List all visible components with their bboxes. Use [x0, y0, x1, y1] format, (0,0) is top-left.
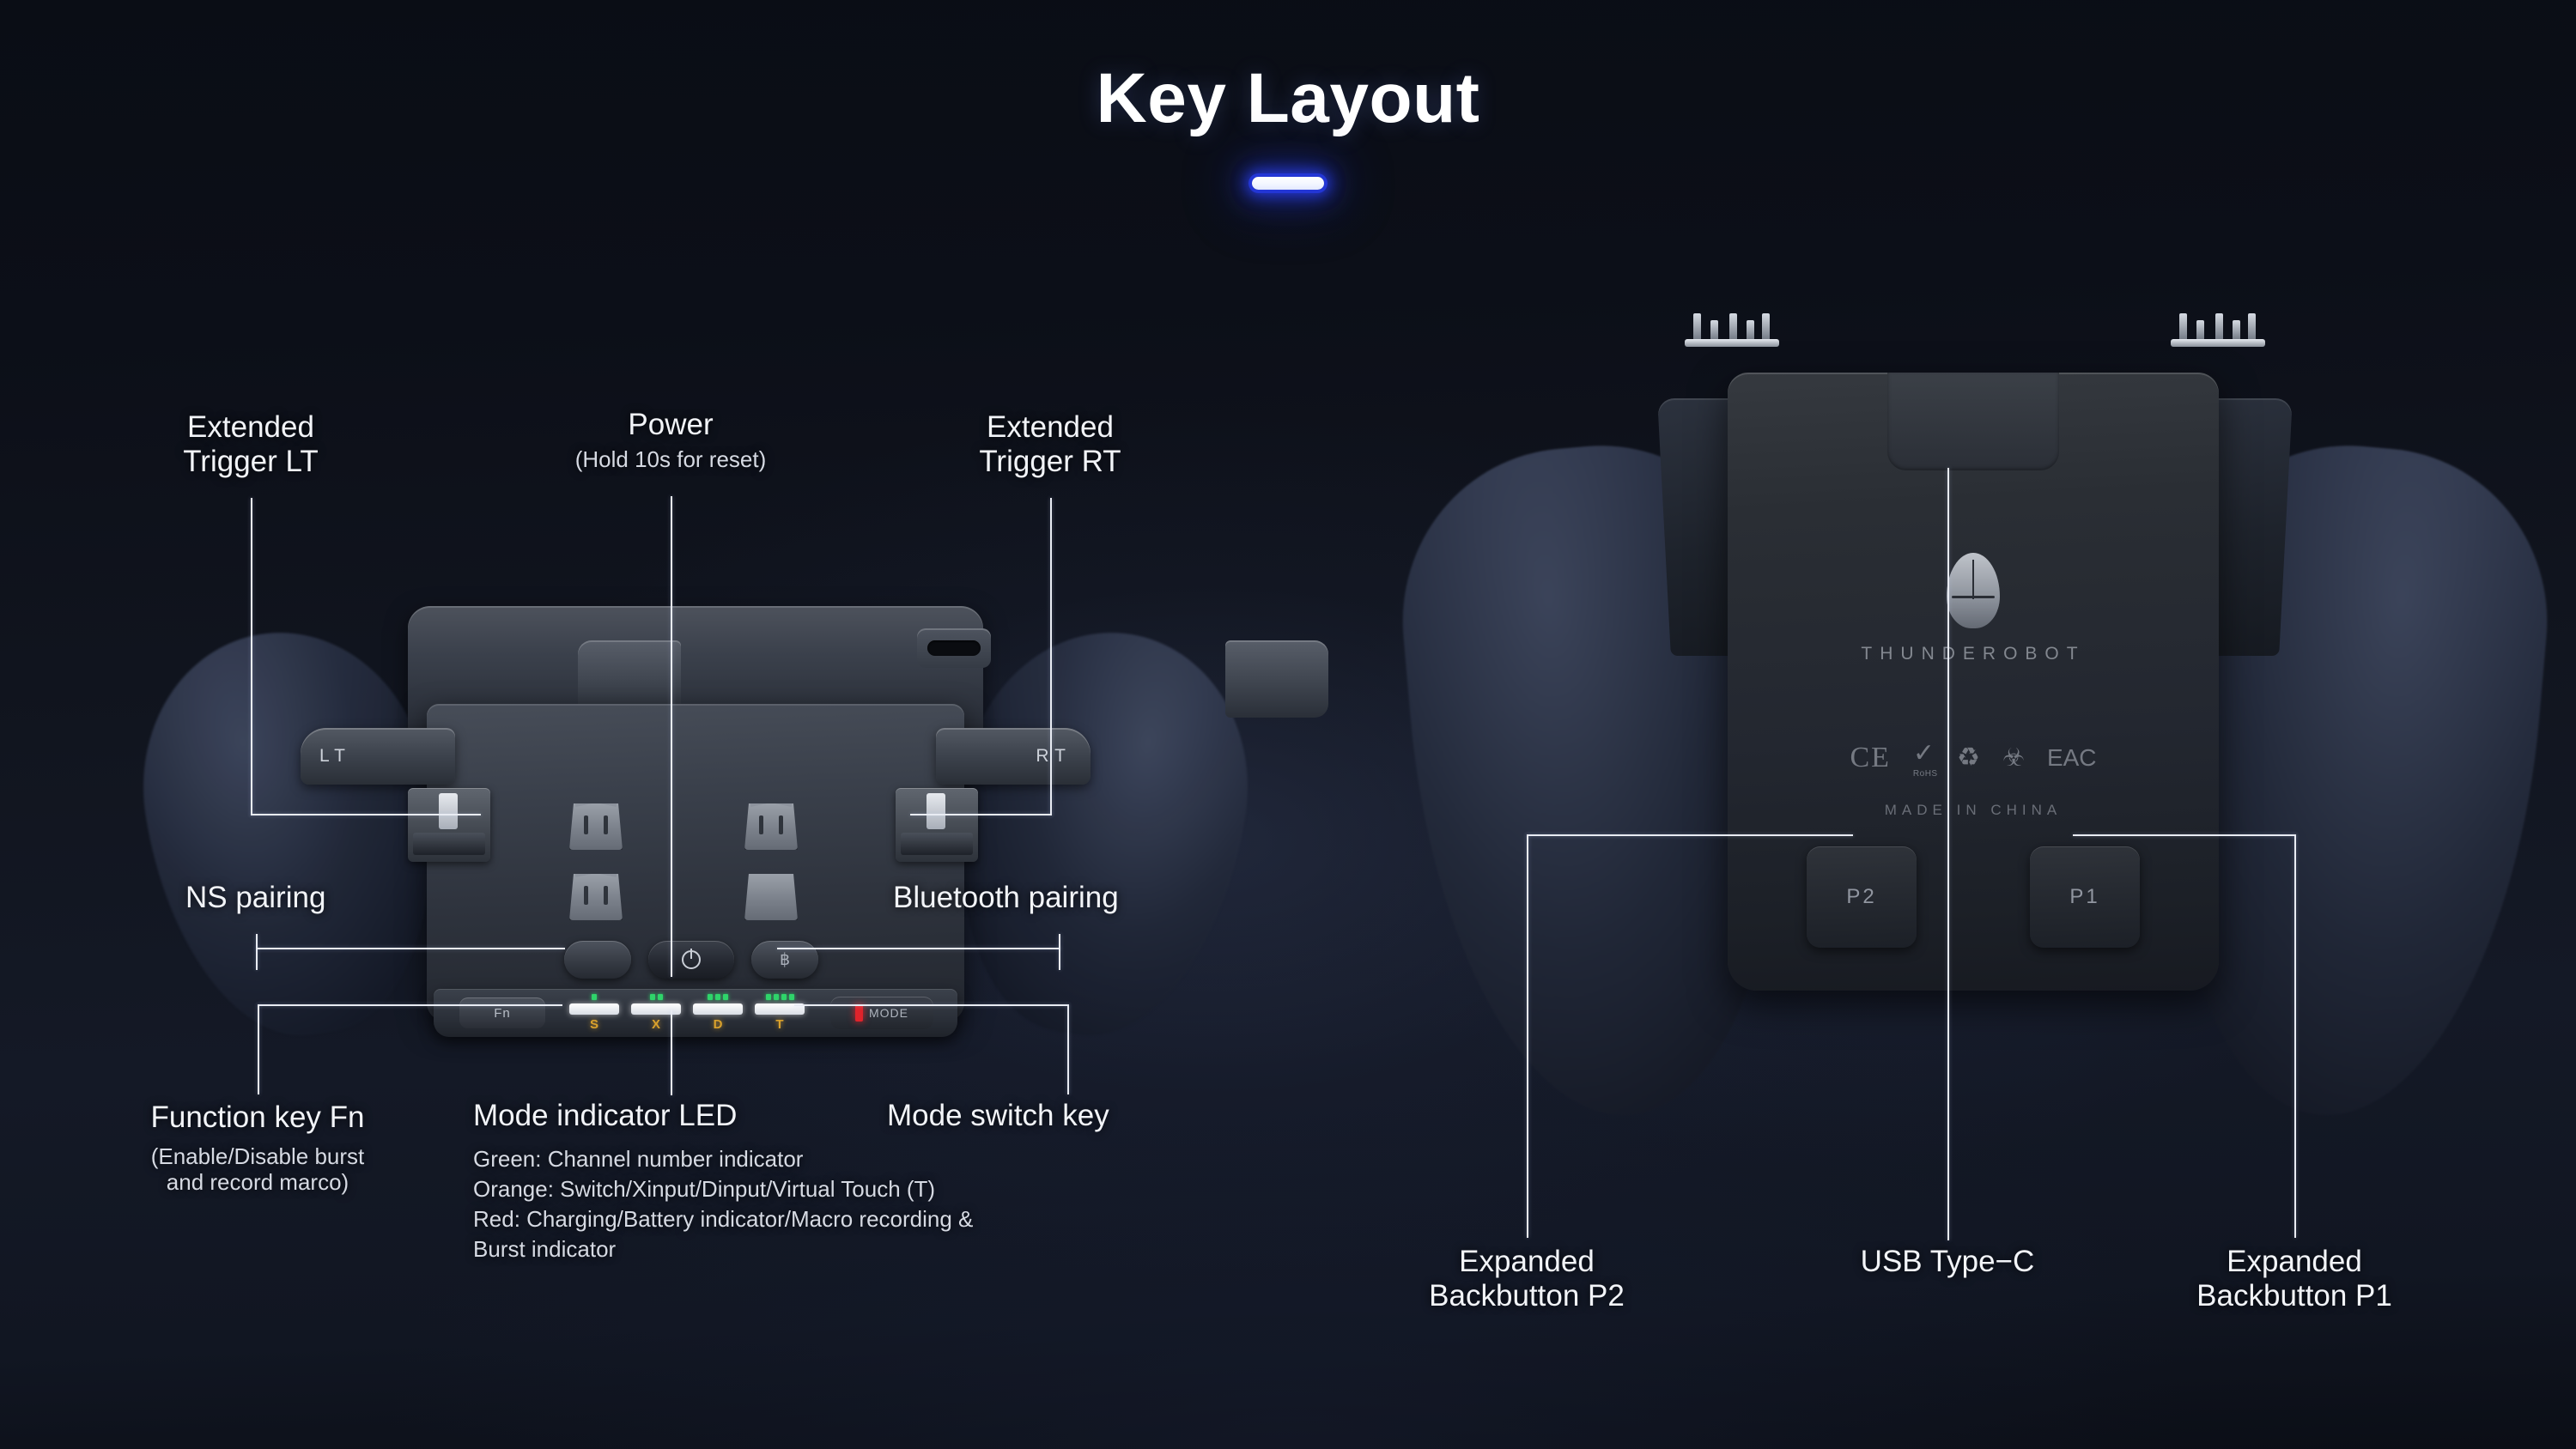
callout-power-note: (Hold 10s for reset) — [507, 447, 834, 473]
leader-line-rt-horizontal — [910, 814, 1052, 815]
leader-line-mode-horizontal — [794, 1004, 1069, 1006]
leader-line-p2-vertical — [1527, 834, 1528, 1238]
callout-power-title: Power — [507, 408, 834, 442]
leader-line-bt-vertical — [1059, 934, 1060, 970]
leader-line-lt-horizontal — [251, 814, 481, 815]
callout-usb-type-c: USB Type−C — [1784, 1245, 2111, 1279]
callout-function-key-note: (Enable/Disable burst and record marco) — [94, 1144, 421, 1195]
header: Key Layout — [0, 0, 2576, 190]
leader-line-fn-horizontal — [258, 1004, 562, 1006]
callout-mode-switch-key: Mode switch key — [887, 1099, 1248, 1133]
back-plate-notch — [1887, 373, 2059, 470]
recycle-icon: ♻ — [1957, 743, 1980, 773]
bluetooth-icon: ฿ — [780, 950, 790, 970]
leader-line-fn-vertical — [258, 1004, 259, 1094]
rohs-caption: RoHS — [1913, 769, 1938, 779]
title-divider-wrap — [0, 177, 2576, 190]
certification-marks: CE ✓ RoHS ♻ ☣ EАC — [1728, 738, 2219, 777]
mode-button-label: MODE — [869, 1006, 908, 1020]
extended-trigger-lt: LT — [301, 728, 455, 785]
callout-expanded-backbutton-p2: Expanded Backbutton P2 — [1364, 1245, 1690, 1313]
eac-mark-icon: EАC — [2047, 744, 2097, 772]
leader-line-lt-vertical — [251, 498, 252, 815]
extended-trigger-rt: RT — [936, 728, 1091, 785]
callout-expanded-backbutton-p1: Expanded Backbutton P1 — [2131, 1245, 2458, 1313]
trigger-stop-switch-right — [896, 788, 978, 862]
leader-line-rt-vertical — [1050, 498, 1052, 815]
leader-line-power-vertical — [671, 496, 672, 977]
brand-name: THUNDEROBOT — [1728, 644, 2219, 664]
page-background: Key Layout LT RT — [0, 0, 2576, 1449]
function-key-fn-button[interactable]: Fn — [459, 997, 545, 1028]
page-title: Key Layout — [0, 64, 2576, 134]
leader-line-bt-horizontal — [777, 948, 1060, 949]
trigger-stop-switch-left — [408, 788, 490, 862]
back-cover-plate: THUNDEROBOT CE ✓ RoHS ♻ ☣ EАC MADE IN CH… — [1728, 373, 2219, 991]
bluetooth-pairing-button[interactable]: ฿ — [751, 941, 818, 979]
paddle-icon-top-left — [569, 803, 623, 850]
expanded-backbutton-p2[interactable]: P2 — [1807, 846, 1917, 948]
thunderobot-helmet-logo-icon — [1947, 553, 2000, 628]
led-channel-t: T — [755, 994, 805, 1034]
callout-function-key-title: Function key Fn — [94, 1100, 421, 1135]
leader-line-led-vertical — [671, 1009, 672, 1095]
ce-mark-icon: CE — [1850, 742, 1890, 774]
callout-mode-indicator-lines: Green: Channel number indicator Orange: … — [473, 1144, 1246, 1264]
connector-pins-right — [2171, 312, 2265, 347]
mode-switch-key-button[interactable]: MODE — [830, 997, 933, 1029]
paddle-icon-bottom-right — [744, 874, 798, 920]
made-in-text: MADE IN CHINA — [1728, 802, 2219, 819]
leader-line-p1-vertical — [2294, 834, 2296, 1238]
mode-indicator-led-strip: S X D T — [569, 994, 818, 1034]
callout-extended-trigger-lt: Extended Trigger LT — [88, 410, 414, 479]
connector-pins-left — [1685, 312, 1779, 347]
led-label-x: X — [631, 1017, 681, 1032]
led-label-t: T — [755, 1017, 805, 1032]
controller-back-illustration: THUNDEROBOT CE ✓ RoHS ♻ ☣ EАC MADE IN CH… — [1408, 343, 2542, 1219]
callout-ns-pairing: NS pairing — [185, 881, 495, 915]
rohs-mark-icon: ✓ RoHS — [1913, 738, 1935, 777]
leader-line-usbc-vertical — [1947, 468, 1949, 1240]
controller-bottom-strip: Fn S X D — [434, 989, 957, 1037]
paddle-icon-top-right — [744, 803, 798, 850]
leader-line-p1-horizontal — [2073, 834, 2296, 836]
usb-type-c-port — [917, 628, 991, 668]
leader-line-p2-horizontal — [1527, 834, 1853, 836]
paddle-icon-bottom-left — [569, 874, 623, 920]
callout-extended-trigger-rt: Extended Trigger RT — [887, 410, 1213, 479]
expanded-backbutton-p1[interactable]: P1 — [2030, 846, 2140, 948]
leader-line-ns-vertical — [256, 934, 258, 970]
title-divider — [1252, 177, 1324, 190]
leader-line-mode-vertical — [1067, 1004, 1069, 1094]
mode-led-icon — [855, 1004, 863, 1022]
led-channel-d: D — [693, 994, 743, 1034]
power-button[interactable] — [648, 941, 734, 979]
led-label-d: D — [693, 1017, 743, 1032]
callout-bluetooth-pairing: Bluetooth pairing — [893, 881, 1254, 915]
power-icon — [682, 950, 701, 969]
led-channel-x: X — [631, 994, 681, 1034]
ns-pairing-button[interactable] — [564, 941, 631, 979]
weee-crossed-bin-icon: ☣ — [2002, 743, 2025, 773]
led-label-s: S — [569, 1017, 619, 1032]
shoulder-button-right — [1225, 640, 1328, 718]
callout-mode-indicator-title: Mode indicator LED — [473, 1099, 834, 1133]
leader-line-ns-horizontal — [256, 948, 565, 949]
controller-front-illustration: LT RT ฿ Fn — [150, 601, 1241, 1099]
led-channel-s: S — [569, 994, 619, 1034]
